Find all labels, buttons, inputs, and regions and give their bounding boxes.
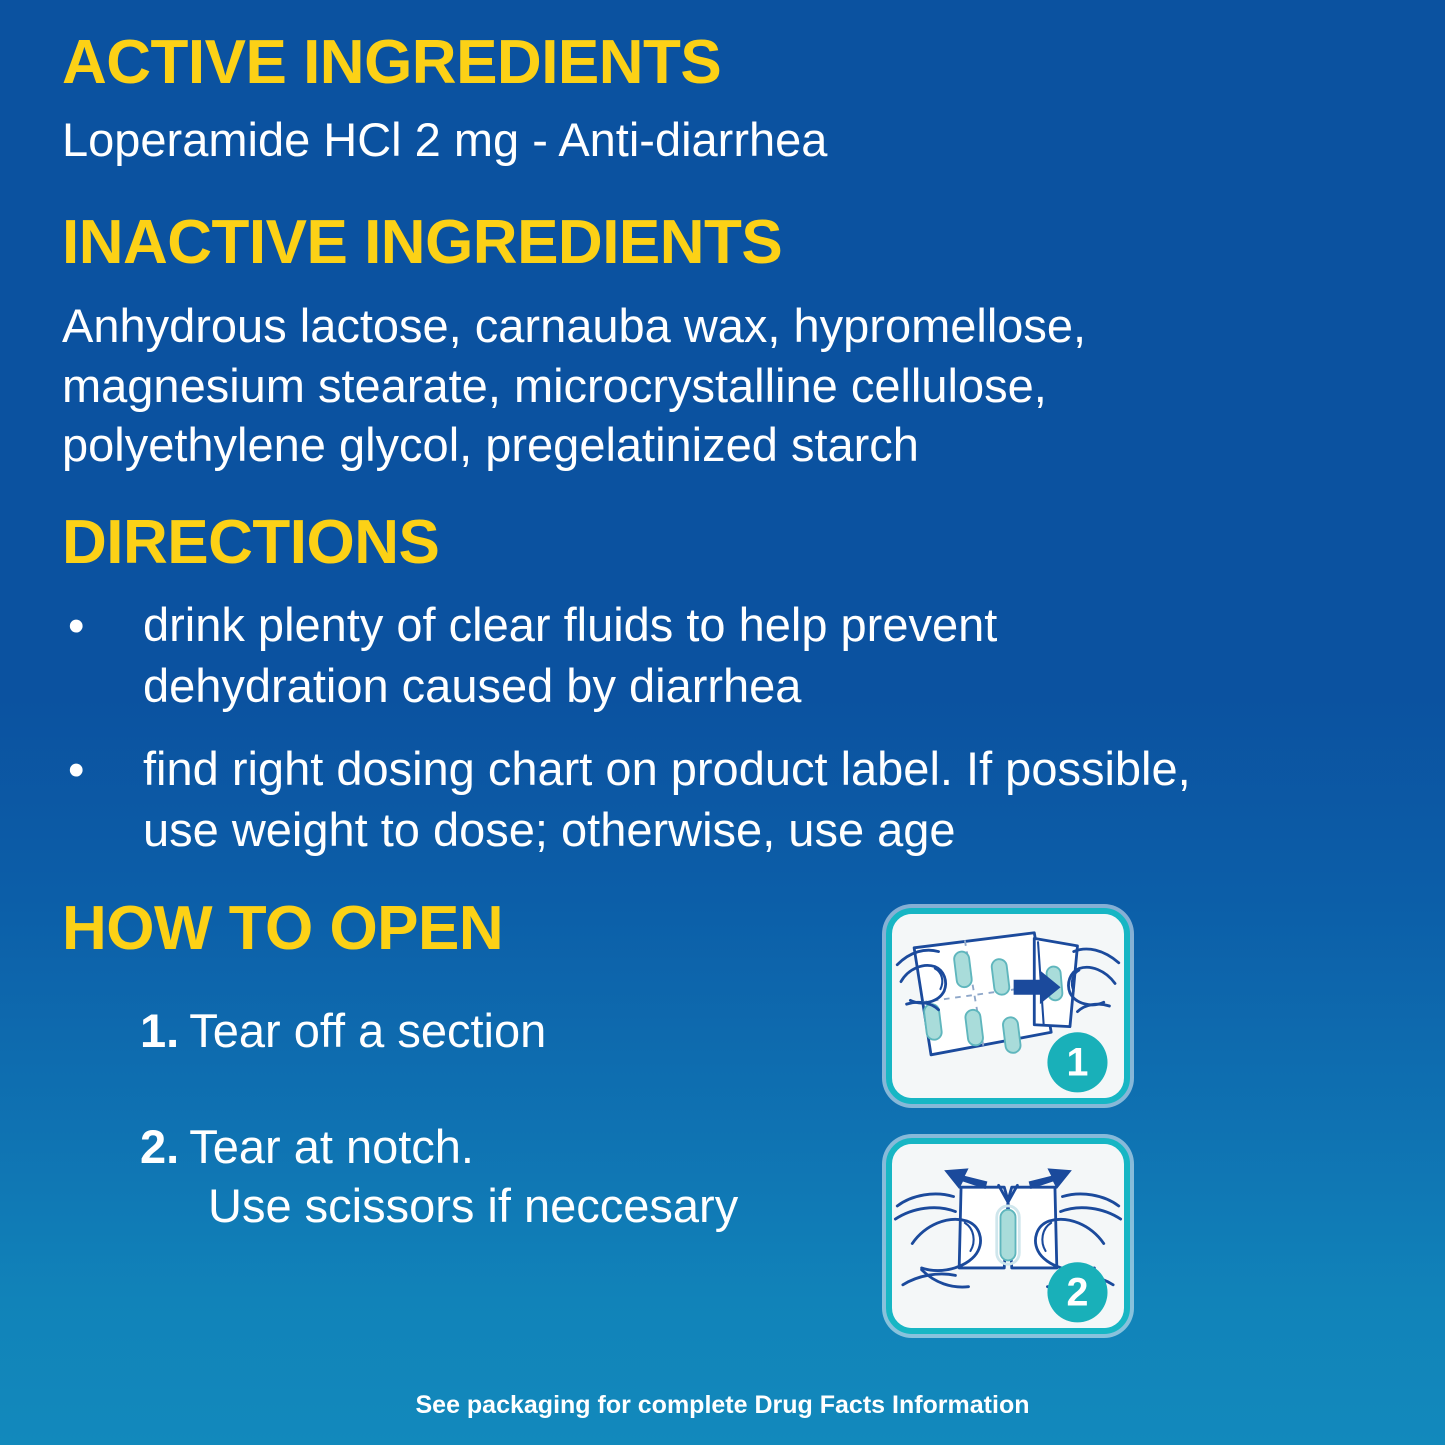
inactive-line-3: polyethylene glycol, pregelatinized star…: [62, 415, 1352, 475]
how-to-open-heading: HOW TO OPEN: [62, 898, 503, 960]
step-1-badge-number: 1: [1067, 1040, 1089, 1084]
step-1-text: Tear off a section: [189, 1004, 546, 1057]
bullet-point-icon: •: [68, 595, 84, 656]
how-to-open-step-1-illustration: .nv { fill:none; stroke:#1b4a9c; stroke-…: [886, 908, 1130, 1104]
bullet-point-icon: •: [68, 739, 84, 800]
directions-bullet-2-line-1: find right dosing chart on product label…: [143, 738, 1392, 799]
inactive-line-1: Anhydrous lactose, carnauba wax, hyprome…: [62, 296, 1352, 356]
directions-bullet-1: • drink plenty of clear fluids to help p…: [62, 594, 1392, 716]
step-2-number: 2.: [140, 1120, 179, 1173]
directions-bullet-2-line-2: use weight to dose; otherwise, use age: [143, 799, 1392, 860]
blister-pack-tear-section-icon: .nv { fill:none; stroke:#1b4a9c; stroke-…: [892, 914, 1124, 1098]
step-2-subtext: Use scissors if neccesary: [208, 1177, 738, 1236]
active-ingredients-text: Loperamide HCl 2 mg - Anti-diarrhea: [62, 110, 827, 170]
how-to-open-step-2: 2.Tear at notch. Use scissors if neccesa…: [140, 1118, 738, 1236]
directions-bullet-2: • find right dosing chart on product lab…: [62, 738, 1392, 860]
packet-tear-at-notch-icon: 2: [892, 1144, 1124, 1328]
product-info-graphic: ACTIVE INGREDIENTS Loperamide HCl 2 mg -…: [0, 0, 1445, 1445]
inactive-ingredients-heading: INACTIVE INGREDIENTS: [62, 212, 782, 274]
inactive-line-2: magnesium stearate, microcrystalline cel…: [62, 356, 1352, 416]
step-2-badge-number: 2: [1067, 1270, 1089, 1314]
directions-heading: DIRECTIONS: [62, 512, 439, 574]
how-to-open-step-2-illustration: 2: [886, 1138, 1130, 1334]
step-1-number: 1.: [140, 1004, 179, 1057]
how-to-open-step-1: 1.Tear off a section: [140, 1002, 546, 1061]
directions-bullet-1-line-2: dehydration caused by diarrhea: [143, 655, 1392, 716]
directions-bullet-1-line-1: drink plenty of clear fluids to help pre…: [143, 594, 1392, 655]
footer-note: See packaging for complete Drug Facts In…: [0, 1391, 1445, 1420]
active-ingredients-heading: ACTIVE INGREDIENTS: [62, 32, 721, 94]
inactive-ingredients-text: Anhydrous lactose, carnauba wax, hyprome…: [62, 296, 1352, 475]
step-2-text: Tear at notch.: [189, 1120, 474, 1173]
